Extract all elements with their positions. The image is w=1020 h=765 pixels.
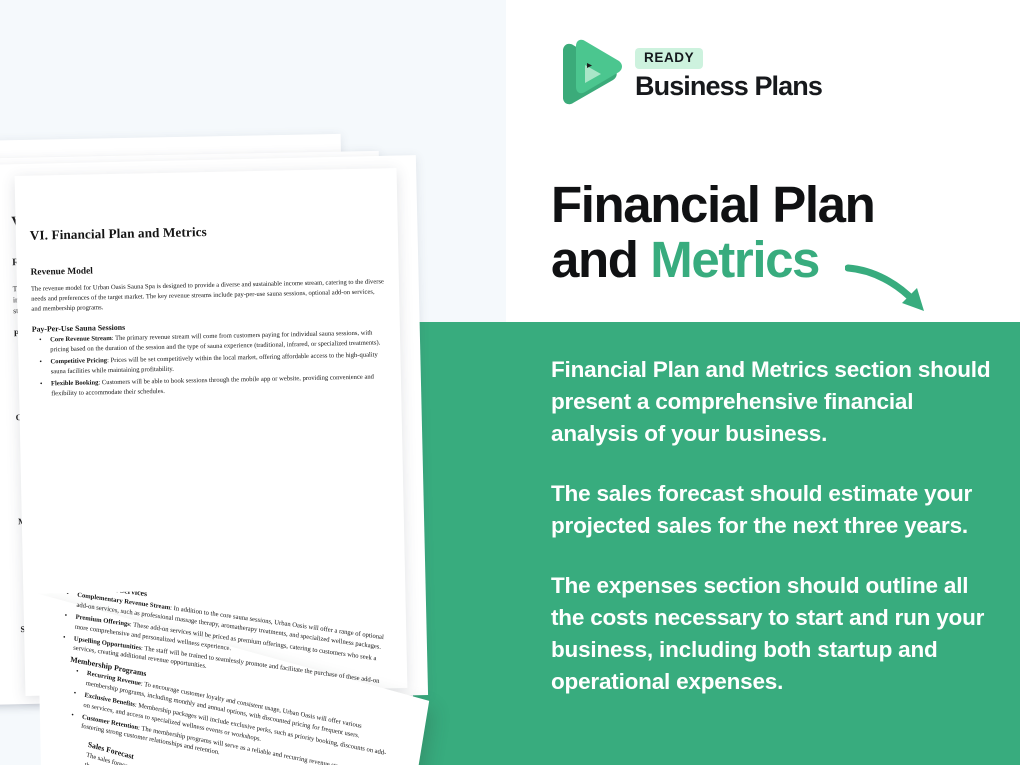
bullet-text: : To encourage customer loyalty and cons…	[85, 680, 361, 740]
bullet-term: Upselling Opportunities	[74, 635, 142, 651]
bullet-item: Recurring Revenue: To encourage customer…	[85, 669, 395, 748]
document-group-0: Pay-Per-Use Sauna Sessions Core Revenue …	[32, 317, 387, 399]
document-intro-paragraph: The revenue model for Urban Oasis Sauna …	[31, 277, 386, 314]
group-bullet-list: Complementary Revenue Stream: In additio…	[55, 588, 387, 697]
bullet-term: Recurring Revenue	[87, 670, 142, 687]
bullet-term: Customer Retention	[82, 713, 139, 731]
bullet-item: Complementary Revenue Stream: In additio…	[76, 591, 387, 654]
brand-logo[interactable]: READY Business Plans	[551, 37, 822, 111]
brand-name: Business Plans	[635, 72, 822, 100]
bullet-term: Core Revenue Stream	[50, 335, 112, 343]
bullet-text: : Membership packages will include exclu…	[83, 701, 387, 756]
document-group-1: Optional Add-On Services Complementary R…	[55, 585, 388, 701]
panel-paragraph-2: The sales forecast should estimate your …	[551, 478, 997, 542]
panel-paragraph-1: Financial Plan and Metrics section shoul…	[551, 354, 997, 450]
panel-paragraph-3: The expenses section should outline all …	[551, 570, 997, 698]
ready-badge: READY	[635, 48, 703, 69]
bullet-item: Upselling Opportunities: The staff will …	[73, 634, 384, 697]
document-page-front: VI. Financial Plan and Metrics Revenue M…	[15, 168, 408, 696]
bullet-text: : Customers will be able to book session…	[51, 373, 374, 397]
document-stack: V Re Th inc stre Pay Op M S VI. Financia…	[0, 0, 506, 765]
curved-arrow-down-right-icon	[845, 263, 950, 325]
bullet-text: : These add-on services will be priced a…	[75, 621, 377, 662]
group-heading: Optional Add-On Services	[60, 585, 388, 632]
document-section-heading: Revenue Model	[31, 260, 385, 277]
bullet-item: Customer Retention: The membership progr…	[80, 712, 390, 765]
play-triangle-logo-icon	[551, 37, 623, 111]
page-title: Financial Plan and Metrics	[551, 178, 874, 287]
bullet-item: Flexible Booking: Customers will be able…	[51, 372, 387, 399]
headline-accent: Metrics	[650, 231, 819, 288]
headline-prefix: and	[551, 231, 650, 288]
group-bullet-list: Recurring Revenue: To encourage customer…	[63, 666, 395, 765]
page-curl-sheet	[37, 594, 429, 765]
bullet-text: : In addition to the core sauna sessions…	[76, 602, 384, 651]
bullet-term: Competitive Pricing	[50, 357, 107, 365]
slide-canvas: V Re Th inc stre Pay Op M S VI. Financia…	[0, 0, 1020, 765]
bullet-item: Exclusive Benefits: Membership packages …	[83, 691, 393, 765]
document-title: VI. Financial Plan and Metrics	[30, 220, 384, 243]
forecast-heading: Sales Forecast	[87, 740, 423, 765]
bullet-term: Premium Offerings	[75, 613, 130, 628]
forecast-paragraph: The sales forecast for Urban Oasis Sauna…	[82, 751, 421, 765]
bullet-item: Premium Offerings: These add-on services…	[74, 612, 385, 675]
group-bullet-list: Core Revenue Stream: The primary revenue…	[32, 328, 387, 399]
document-body: VI. Financial Plan and Metrics Revenue M…	[30, 220, 388, 403]
document-group-2: Membership Programs Recurring Revenue: T…	[62, 655, 396, 765]
brand-text: READY Business Plans	[635, 48, 822, 100]
panel-description: Financial Plan and Metrics section shoul…	[551, 354, 997, 697]
bullet-term: Complementary Revenue Stream	[77, 592, 170, 612]
headline-line-2: and Metrics	[551, 233, 874, 288]
bullet-text: : The staff will be trained to seamlessl…	[73, 644, 380, 684]
bullet-text: : The membership programs will serve as …	[81, 723, 379, 765]
page-curl-content: Optional Add-On Services Complementary R…	[37, 585, 463, 765]
document-forecast-block: Sales Forecast The sales forecast for Ur…	[81, 740, 423, 765]
headline-line-1: Financial Plan	[551, 178, 874, 233]
bullet-term: Flexible Booking	[51, 379, 99, 387]
